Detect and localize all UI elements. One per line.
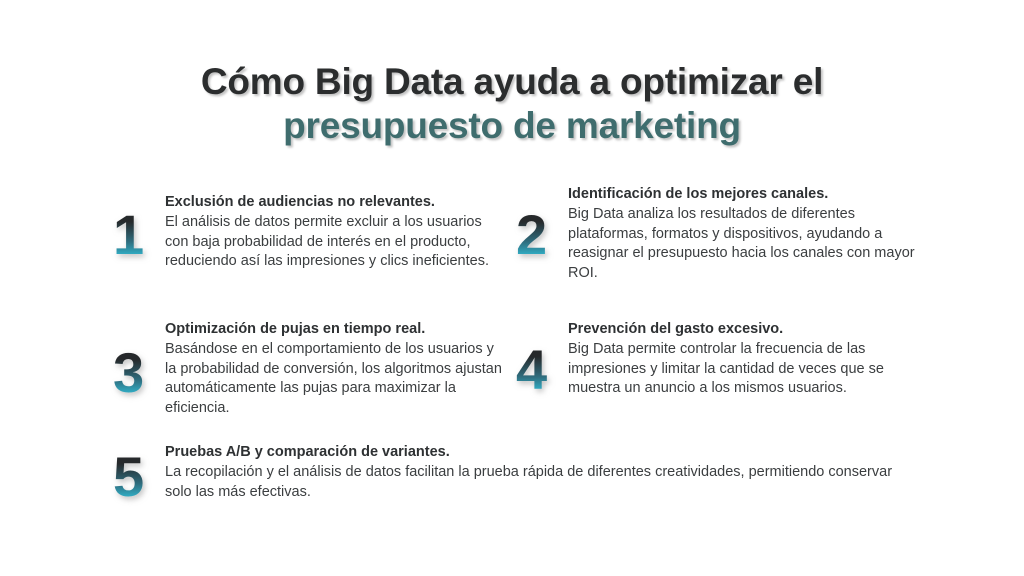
item-heading-5: Pruebas A/B y comparación de variantes. [165,443,913,462]
item-heading-3: Optimización de pujas en tiempo real. [165,320,508,339]
item-text-5: La recopilación y el análisis de datos f… [165,463,913,502]
item-text-3: Basándose en el comportamiento de los us… [165,340,508,418]
title-line-2: presupuesto de marketing [0,104,1024,148]
item-heading-2: Identificación de los mejores canales. [568,185,916,204]
item-text-4: Big Data permite controlar la frecuencia… [568,340,916,399]
item-body-4: Prevención del gasto excesivo. Big Data … [562,320,916,399]
item-heading-4: Prevención del gasto excesivo. [568,320,916,339]
item-number-4: 4 [516,342,562,398]
list-item-4: 4 Prevención del gasto excesivo. Big Dat… [516,320,916,399]
item-body-1: Exclusión de audiencias no relevantes. E… [159,193,508,272]
list-item-5: 5 Pruebas A/B y comparación de variantes… [113,443,913,505]
title-line-1: Cómo Big Data ayuda a optimizar el [0,60,1024,104]
slide-canvas: Cómo Big Data ayuda a optimizar el presu… [0,0,1024,576]
item-text-2: Big Data analiza los resultados de difer… [568,205,916,283]
item-number-2: 2 [516,207,562,263]
item-number-5: 5 [113,449,159,505]
page-title: Cómo Big Data ayuda a optimizar el presu… [0,60,1024,148]
item-text-1: El análisis de datos permite excluir a l… [165,213,508,272]
list-item-3: 3 Optimización de pujas en tiempo real. … [113,320,508,418]
list-item-1: 1 Exclusión de audiencias no relevantes.… [113,193,508,272]
item-body-2: Identificación de los mejores canales. B… [562,185,916,283]
item-number-1: 1 [113,207,159,263]
item-body-3: Optimización de pujas en tiempo real. Ba… [159,320,508,418]
item-body-5: Pruebas A/B y comparación de variantes. … [159,443,913,502]
item-heading-1: Exclusión de audiencias no relevantes. [165,193,508,212]
item-number-3: 3 [113,345,159,401]
list-item-2: 2 Identificación de los mejores canales.… [516,185,916,283]
